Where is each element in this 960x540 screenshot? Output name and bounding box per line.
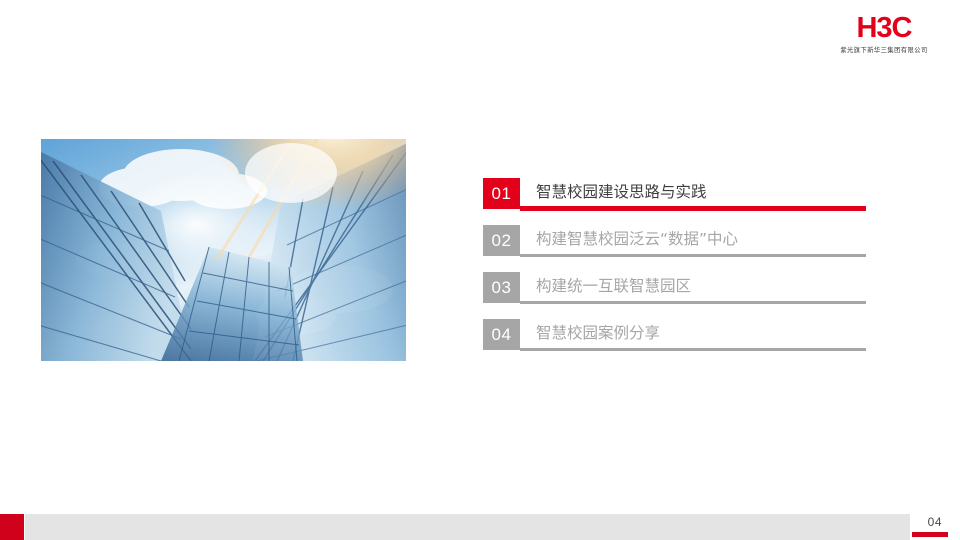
agenda-label-04: 智慧校园案例分享 xyxy=(536,319,660,350)
agenda-item-01[interactable]: 01 智慧校园建设思路与实践 xyxy=(483,178,866,224)
page-number-rule xyxy=(912,532,948,537)
agenda-rule-03 xyxy=(520,301,866,304)
agenda-rule-04 xyxy=(520,348,866,351)
hero-photo-skyscrapers xyxy=(41,139,406,361)
agenda-label-01: 智慧校园建设思路与实践 xyxy=(536,178,707,209)
agenda-number-01: 01 xyxy=(483,178,520,209)
agenda-item-03[interactable]: 03 构建统一互联智慧园区 xyxy=(483,272,866,318)
agenda-rule-01 xyxy=(520,206,866,211)
agenda-list: 01 智慧校园建设思路与实践 02 构建智慧校园泛云“数据”中心 03 构建统一… xyxy=(483,178,866,366)
agenda-number-03: 03 xyxy=(483,272,520,303)
footer-accent-block xyxy=(0,514,24,540)
agenda-rule-02 xyxy=(520,254,866,257)
skyscraper-illustration-icon xyxy=(41,139,406,361)
brand-logo: H3C 紫光旗下新华三集团有限公司 xyxy=(830,14,938,55)
agenda-number-02: 02 xyxy=(483,225,520,256)
page-number: 04 xyxy=(928,515,942,529)
footer-bar xyxy=(25,514,910,540)
agenda-number-04: 04 xyxy=(483,319,520,350)
agenda-label-03: 构建统一互联智慧园区 xyxy=(536,272,691,303)
agenda-item-02[interactable]: 02 构建智慧校园泛云“数据”中心 xyxy=(483,225,866,271)
h3c-wordmark-icon: H3C xyxy=(830,14,938,43)
brand-tagline: 紫光旗下新华三集团有限公司 xyxy=(832,48,936,55)
agenda-item-04[interactable]: 04 智慧校园案例分享 xyxy=(483,319,866,365)
agenda-label-02: 构建智慧校园泛云“数据”中心 xyxy=(536,225,738,256)
